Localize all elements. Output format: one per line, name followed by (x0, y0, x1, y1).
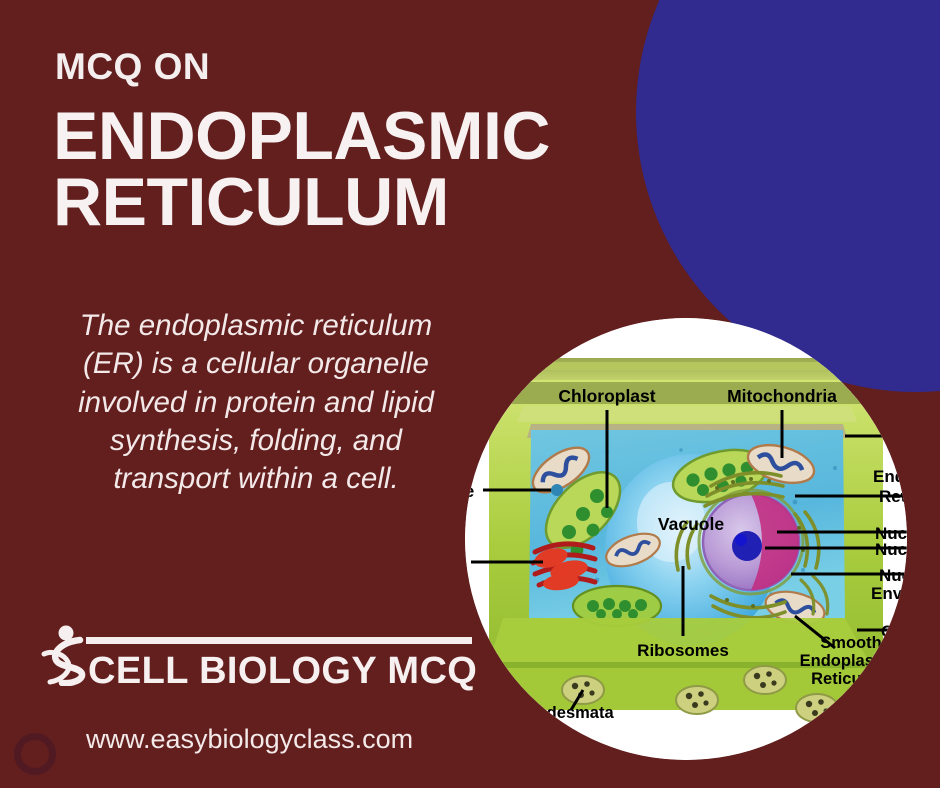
diagram-label-smooth-er-line2: Endoplasmic (800, 652, 903, 670)
diagram-label-plasma-membrane: me (465, 481, 475, 501)
page-title-line1: ENDOPLASMIC (53, 98, 550, 174)
plant-cell-diagram: Chloroplast Mitochondria Vacuole Ribosom… (465, 318, 907, 760)
decorative-corner-ring-icon (14, 733, 56, 775)
site-url[interactable]: www.easybiologyclass.com (86, 726, 413, 753)
brand-name: CELL BIOLOGY MCQ (88, 652, 477, 690)
diagram-label-nucleolus: Nucleo (875, 540, 907, 559)
brand-divider (86, 637, 472, 644)
poster-canvas: MCQ ON ENDOPLASMIC RETICULUM The endopla… (0, 0, 940, 788)
diagram-label-chloroplast: Chloroplast (558, 386, 655, 406)
diagram-label-vacuole: Vacuole (658, 514, 724, 534)
diagram-label-smooth-er-line3: Reticulum (811, 670, 891, 688)
diagram-label-golgi-line2: atus (465, 571, 470, 590)
diagram-label-cell-wall-line1: Ce (881, 622, 903, 641)
diagram-label-nuclear-envelope-line1: Nuc (879, 566, 907, 585)
page-title-line2: RETICULUM (53, 170, 693, 236)
diagram-label-cell-wall-line2: W (879, 640, 896, 659)
diagram-label-rough-er-line1: End (873, 467, 905, 486)
diagram-label-nuclear-envelope-line2: Enve (871, 584, 907, 603)
page-title: ENDOPLASMIC RETICULUM (53, 104, 693, 236)
diagram-label-plasmodesmata: lasmodesmata (499, 704, 614, 722)
diagram-label-smooth-er-line1: Smooth (820, 634, 881, 652)
diagram-label-mitochondria: Mitochondria (727, 386, 837, 406)
diagram-label-ribosomes: Ribosomes (637, 641, 729, 660)
description-text: The endoplasmic reticulum (ER) is a cell… (52, 307, 460, 499)
diagram-label-rough-er-line2: Ret (879, 487, 907, 506)
page-eyebrow: MCQ ON (55, 48, 210, 85)
